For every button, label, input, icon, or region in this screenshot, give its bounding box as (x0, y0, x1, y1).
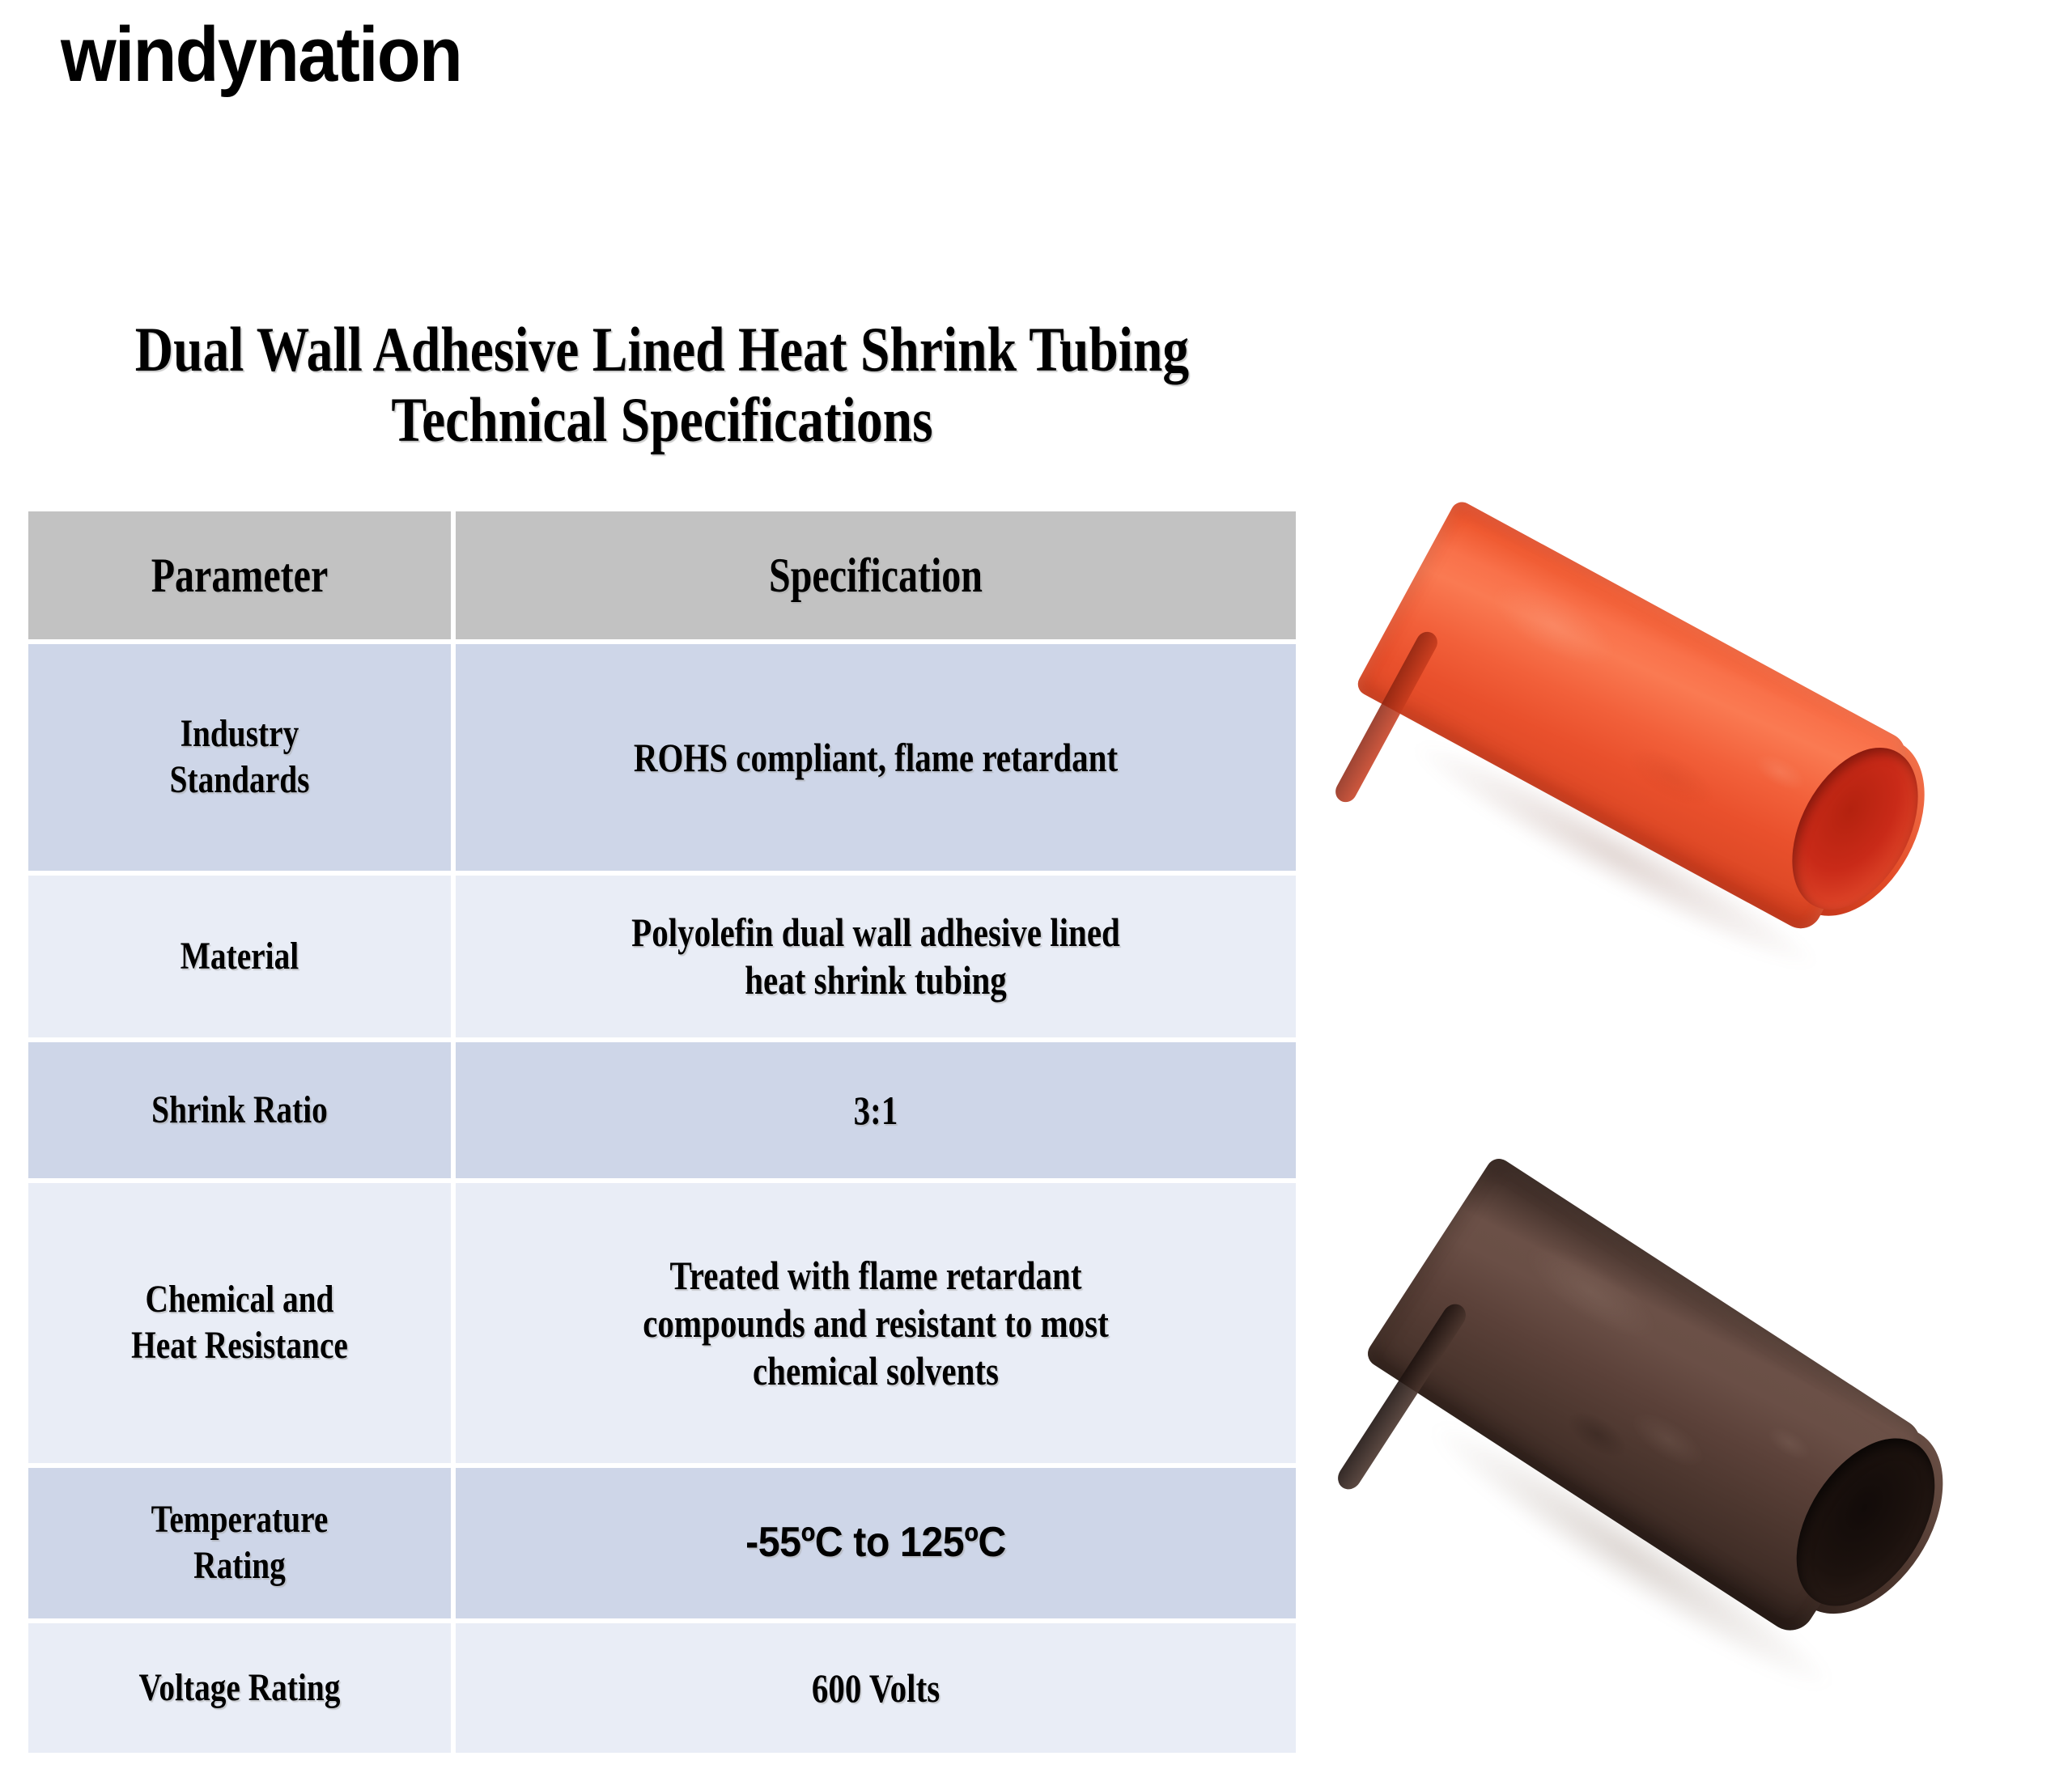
specification-value: ROHS compliant, flame retardant (541, 734, 1211, 782)
table-row: Industry Standards ROHS compliant, flame… (28, 644, 1296, 871)
specification-cell-material: Polyolefin dual wall adhesive lined heat… (456, 876, 1296, 1037)
specification-cell-temperature-rating: -55ºC to 125ºC (456, 1468, 1296, 1618)
parameter-cell-temperature-rating: Temperature Rating (28, 1468, 451, 1618)
parameter-cell-shrink-ratio: Shrink Ratio (28, 1042, 451, 1178)
specifications-table: Parameter Specification Industry Standar… (23, 507, 1301, 1758)
specification-cell-chemical-heat-resistance: Treated with flame retardant compounds a… (456, 1183, 1296, 1463)
parameter-cell-voltage-rating: Voltage Rating (28, 1623, 451, 1753)
column-header-parameter: Parameter (28, 511, 451, 639)
specification-value: Treated with flame retardant compounds a… (541, 1252, 1211, 1395)
specification-value: 3:1 (541, 1087, 1211, 1135)
red-tube-illustration (1344, 518, 2056, 1020)
black-tube-illustration (1344, 1198, 2056, 1764)
table-header-row: Parameter Specification (28, 511, 1296, 639)
table-row: Material Polyolefin dual wall adhesive l… (28, 876, 1296, 1037)
parameter-label: Temperature Rating (75, 1497, 403, 1588)
column-header-specification-label: Specification (549, 547, 1203, 604)
specification-value: 600 Volts (541, 1665, 1211, 1712)
parameter-label: Voltage Rating (75, 1665, 403, 1711)
page-title: Dual Wall Adhesive Lined Heat Shrink Tub… (125, 314, 1199, 456)
parameter-cell-industry-standards: Industry Standards (28, 644, 451, 871)
brand-logo: windynation (61, 15, 461, 96)
parameter-label: Material (75, 934, 403, 980)
specification-cell-shrink-ratio: 3:1 (456, 1042, 1296, 1178)
specification-cell-industry-standards: ROHS compliant, flame retardant (456, 644, 1296, 871)
parameter-label: Shrink Ratio (75, 1088, 403, 1134)
red-heat-shrink-tube-photo (1344, 518, 2056, 1020)
parameter-label: Chemical and Heat Resistance (75, 1277, 403, 1368)
parameter-label: Industry Standards (75, 711, 403, 803)
specification-value: -55ºC to 125ºC (495, 1518, 1255, 1567)
table-row: Voltage Rating 600 Volts (28, 1623, 1296, 1753)
parameter-cell-material: Material (28, 876, 451, 1037)
black-heat-shrink-tube-photo (1344, 1198, 2056, 1764)
column-header-specification: Specification (456, 511, 1296, 639)
table-row: Chemical and Heat Resistance Treated wit… (28, 1183, 1296, 1463)
parameter-cell-chemical-heat-resistance: Chemical and Heat Resistance (28, 1183, 451, 1463)
column-header-parameter-label: Parameter (79, 547, 399, 604)
table-row: Temperature Rating -55ºC to 125ºC (28, 1468, 1296, 1618)
specification-value: Polyolefin dual wall adhesive lined heat… (541, 909, 1211, 1004)
specification-cell-voltage-rating: 600 Volts (456, 1623, 1296, 1753)
table-row: Shrink Ratio 3:1 (28, 1042, 1296, 1178)
